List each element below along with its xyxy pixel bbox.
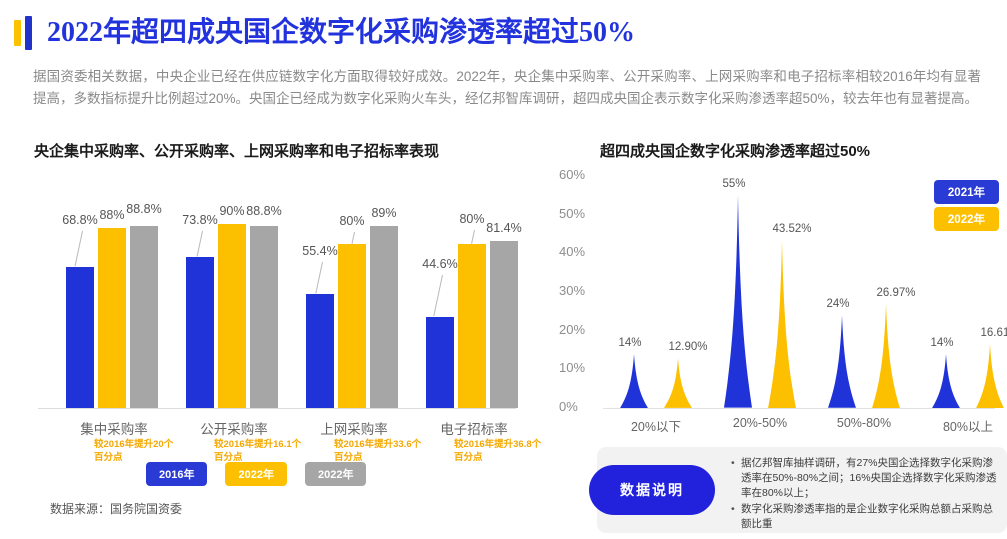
triangle-2022年-80%以上 (973, 344, 1007, 408)
legend-chip-2021[interactable]: 2021年 (934, 180, 999, 204)
triangle-2021年-20%-50% (721, 195, 755, 408)
bullet-icon: • (731, 502, 741, 532)
legend-chip-2022-yellow[interactable]: 2022年 (225, 462, 286, 486)
bar-2022年-电子招标率 (458, 244, 486, 408)
note-text: 数字化采购渗透率指的是企业数字化采购总额占采购总额比重 (741, 502, 999, 532)
triangle-value-label: 14% (600, 337, 660, 349)
leader-line (471, 230, 475, 244)
title-row: 2022年超四成央国企数字化采购渗透率超过50% (14, 16, 635, 50)
bar-2022年-公开采购率 (218, 224, 246, 409)
y-axis-tick-60%: 60% (559, 167, 603, 182)
bar-2016年-集中采购率 (66, 267, 94, 408)
y-axis-tick-20%: 20% (559, 322, 603, 337)
accent-bar-yellow (14, 20, 21, 46)
triangle-2022年-20%以下 (661, 358, 695, 408)
bar-value-label: 81.4% (476, 221, 532, 235)
bar-2022年-公开采购率 (250, 226, 278, 408)
legend-chip-2022[interactable]: 2022年 (934, 207, 999, 231)
x-axis-label-20%以下: 20%以下 (601, 416, 711, 435)
triangle-value-label: 14% (912, 337, 972, 349)
y-axis-tick-50%: 50% (559, 206, 603, 221)
x-axis-label-20%-50%: 20%-50% (705, 416, 815, 430)
y-axis-tick-40%: 40% (559, 244, 603, 259)
page-subtitle: 据国资委相关数据，中央企业已经在供应链数字化方面取得较好成效。2022年，央企集… (33, 66, 981, 109)
x-axis-label-公开采购率: 公开采购率 (174, 418, 294, 438)
leader-line (197, 231, 203, 257)
triangle-value-label: 55% (704, 178, 764, 190)
uplift-annotation-上网采购率: 较2016年提升33.6个百分点 (334, 439, 422, 464)
leader-line (315, 262, 323, 294)
triangle-value-label: 16.61% (970, 327, 1007, 339)
left-chart-legend: 2016年 2022年 2022年 (146, 462, 366, 486)
bar-2016年-上网采购率 (306, 294, 334, 408)
uplift-annotation-电子招标率: 较2016年提升36.8个百分点 (454, 439, 542, 464)
left-chart-baseline (38, 408, 516, 409)
note-list-item: •数字化采购渗透率指的是企业数字化采购总额占采购总额比重 (731, 502, 999, 532)
y-axis-tick-0%: 0% (559, 399, 603, 414)
triangle-value-label: 43.52% (762, 223, 822, 235)
bar-2022年-电子招标率 (490, 241, 518, 408)
accent-bar-blue (25, 16, 32, 50)
right-chart-baseline (603, 408, 995, 409)
triangle-2022年-20%-50% (765, 240, 799, 408)
note-pill-label: 数据说明 (589, 465, 715, 515)
x-axis-label-50%-80%: 50%-80% (809, 416, 919, 430)
y-axis-tick-30%: 30% (559, 283, 603, 298)
bar-value-label: 89% (356, 206, 412, 220)
bar-value-label: 88.8% (116, 202, 172, 216)
triangle-value-label: 12.90% (658, 341, 718, 353)
left-chart-panel: 央企集中采购率、公开采购率、上网采购率和电子招标率表现 68.8%88%88.8… (0, 136, 540, 539)
bar-2022年-上网采购率 (370, 226, 398, 408)
leader-line (352, 232, 355, 244)
note-list: •据亿邦智库抽样调研，有27%央国企选择数字化采购渗透率在50%-80%之间；1… (731, 456, 999, 533)
x-axis-label-上网采购率: 上网采购率 (294, 418, 414, 438)
bar-2022年-上网采购率 (338, 244, 366, 408)
data-source-label: 数据来源：国务院国资委 (50, 500, 182, 517)
right-chart-panel: 超四成央国企数字化采购渗透率超过50% 0%10%20%30%40%50%60%… (545, 136, 1007, 539)
bar-2022年-集中采购率 (130, 226, 158, 408)
bar-2016年-电子招标率 (426, 317, 454, 408)
legend-chip-2016[interactable]: 2016年 (146, 462, 207, 486)
triangle-2021年-50%-80% (825, 315, 859, 408)
right-chart-legend: 2021年 2022年 (934, 180, 999, 231)
x-axis-label-80%以上: 80%以上 (913, 416, 1007, 435)
uplift-annotation-公开采购率: 较2016年提升16.1个百分点 (214, 439, 302, 464)
x-axis-label-集中采购率: 集中采购率 (54, 418, 174, 438)
triangle-2021年-20%以下 (617, 354, 651, 408)
header: 2022年超四成央国企数字化采购渗透率超过50% 据国资委相关数据，中央企业已经… (0, 0, 1007, 136)
bar-2022年-集中采购率 (98, 228, 126, 408)
triangle-value-label: 24% (808, 298, 868, 310)
bar-value-label: 88.8% (236, 204, 292, 218)
triangle-2022年-50%-80% (869, 304, 903, 408)
note-text: 据亿邦智库抽样调研，有27%央国企选择数字化采购渗透率在50%-80%之间；16… (741, 456, 999, 501)
note-box: 数据说明 •据亿邦智库抽样调研，有27%央国企选择数字化采购渗透率在50%-80… (597, 447, 1007, 533)
legend-chip-2022-gray[interactable]: 2022年 (305, 462, 366, 486)
leader-line (433, 274, 443, 315)
x-axis-label-电子招标率: 电子招标率 (414, 418, 534, 438)
note-list-item: •据亿邦智库抽样调研，有27%央国企选择数字化采购渗透率在50%-80%之间；1… (731, 456, 999, 501)
y-axis-tick-10%: 10% (559, 360, 603, 375)
triangle-2021年-80%以上 (929, 354, 963, 408)
uplift-annotation-集中采购率: 较2016年提升20个百分点 (94, 439, 182, 464)
bullet-icon: • (731, 456, 741, 501)
leader-line (75, 231, 83, 266)
page-title: 2022年超四成央国企数字化采购渗透率超过50% (47, 16, 635, 50)
bar-2016年-公开采购率 (186, 257, 214, 408)
triangle-value-label: 26.97% (866, 287, 926, 299)
